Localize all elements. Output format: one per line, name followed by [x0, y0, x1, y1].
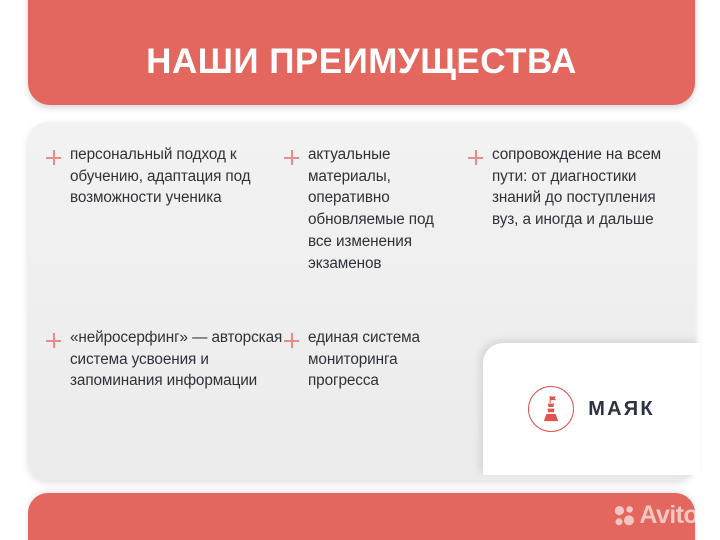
benefit-item: персональный подход к обучению, адаптаци… [46, 144, 272, 209]
avito-watermark: Avito [614, 503, 698, 528]
avito-dots-icon [614, 505, 634, 527]
plus-icon [468, 150, 483, 165]
lighthouse-glyph [528, 386, 574, 432]
header-banner: НАШИ ПРЕИМУЩЕСТВА [28, 0, 695, 105]
benefit-item: актуальные материалы, оперативно обновля… [284, 144, 459, 274]
plus-icon [284, 150, 299, 165]
advantages-poster: НАШИ ПРЕИМУЩЕСТВА персональный подход к … [0, 0, 720, 540]
bottom-bar [28, 493, 695, 540]
benefit-item: единая система мониторинга прогресса [284, 327, 459, 392]
plus-icon [46, 150, 61, 165]
page-title: НАШИ ПРЕИМУЩЕСТВА [146, 44, 577, 79]
benefit-text: актуальные материалы, оперативно обновля… [308, 144, 459, 274]
brand-name: МАЯК [588, 398, 655, 421]
brand-logo-card: МАЯК [483, 343, 700, 475]
benefit-item: сопровождение на всем пути: от диагности… [468, 144, 686, 231]
plus-icon [46, 333, 61, 348]
avito-wordmark: Avito [639, 503, 698, 528]
benefit-text: «нейросерфинг» — авторская система усвое… [70, 327, 291, 392]
benefit-text: сопровождение на всем пути: от диагности… [492, 144, 686, 231]
benefit-text: персональный подход к обучению, адаптаци… [70, 144, 272, 209]
benefit-text: единая система мониторинга прогресса [308, 327, 459, 392]
lighthouse-icon [528, 386, 574, 432]
plus-icon [284, 333, 299, 348]
benefit-item: «нейросерфинг» — авторская система усвое… [46, 327, 291, 392]
